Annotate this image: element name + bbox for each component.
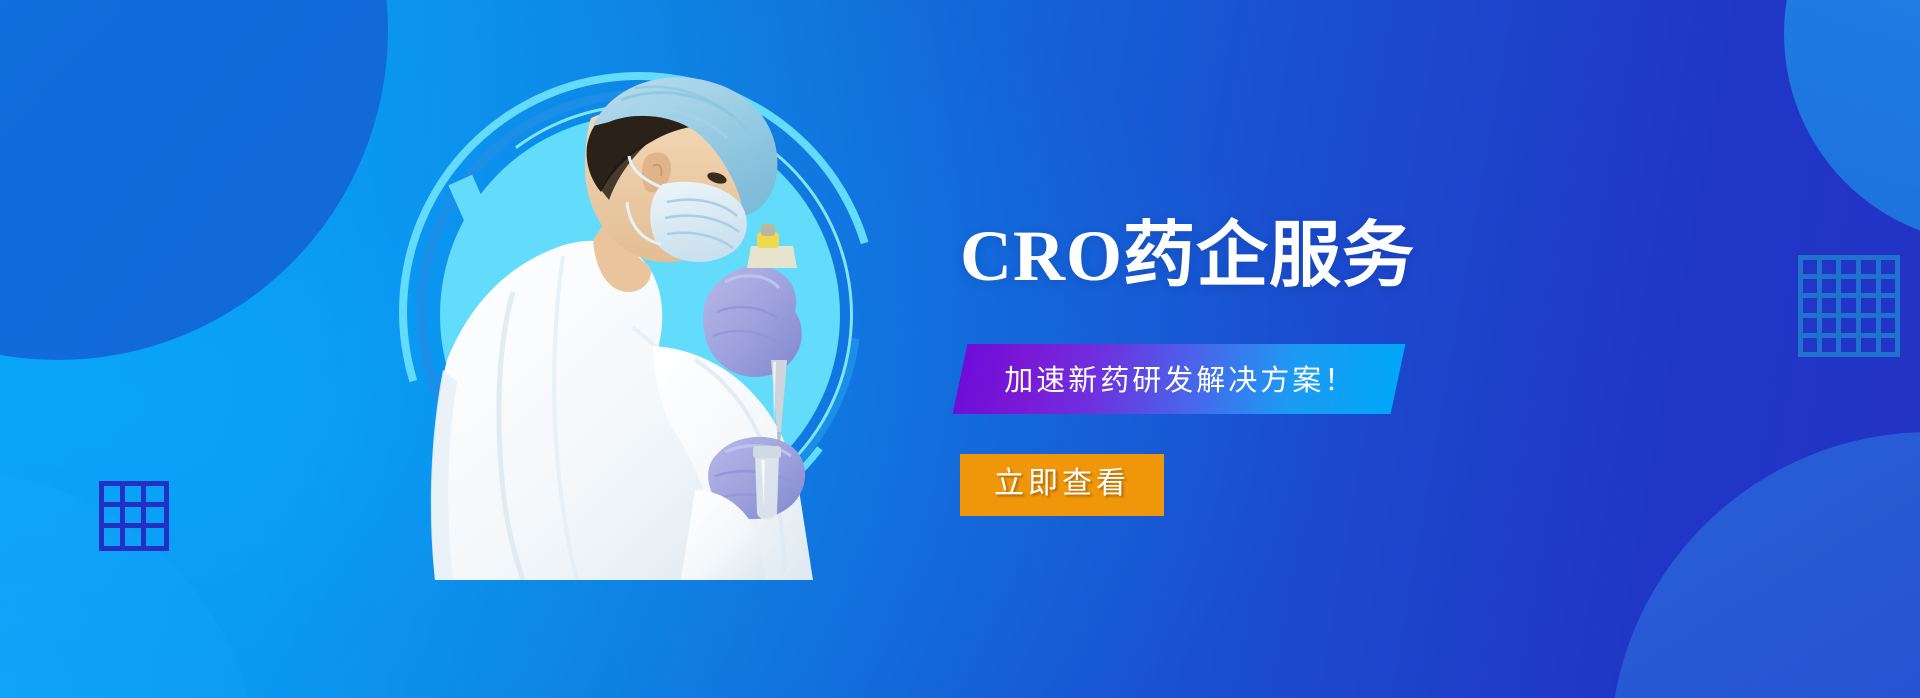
subtitle-badge: 加速新药研发解决方案！ xyxy=(953,344,1406,414)
banner-cta-wrap: 立即查看 xyxy=(960,454,1720,516)
view-now-button[interactable]: 立即查看 xyxy=(960,454,1164,516)
grid-right-decoration xyxy=(1798,255,1900,357)
banner-subtitle-wrap: 加速新药研发解决方案！ xyxy=(960,344,1720,414)
grid-left-decoration xyxy=(99,481,169,551)
banner-copy: CRO药企服务 加速新药研发解决方案！ 立即查看 xyxy=(960,170,1720,516)
banner-title: CRO药企服务 xyxy=(960,218,1720,296)
lab-technician-photo xyxy=(395,60,895,580)
hero-banner: CRO药企服务 加速新药研发解决方案！ 立即查看 xyxy=(0,0,1920,698)
subtitle-badge-label: 加速新药研发解决方案！ xyxy=(1004,357,1356,399)
